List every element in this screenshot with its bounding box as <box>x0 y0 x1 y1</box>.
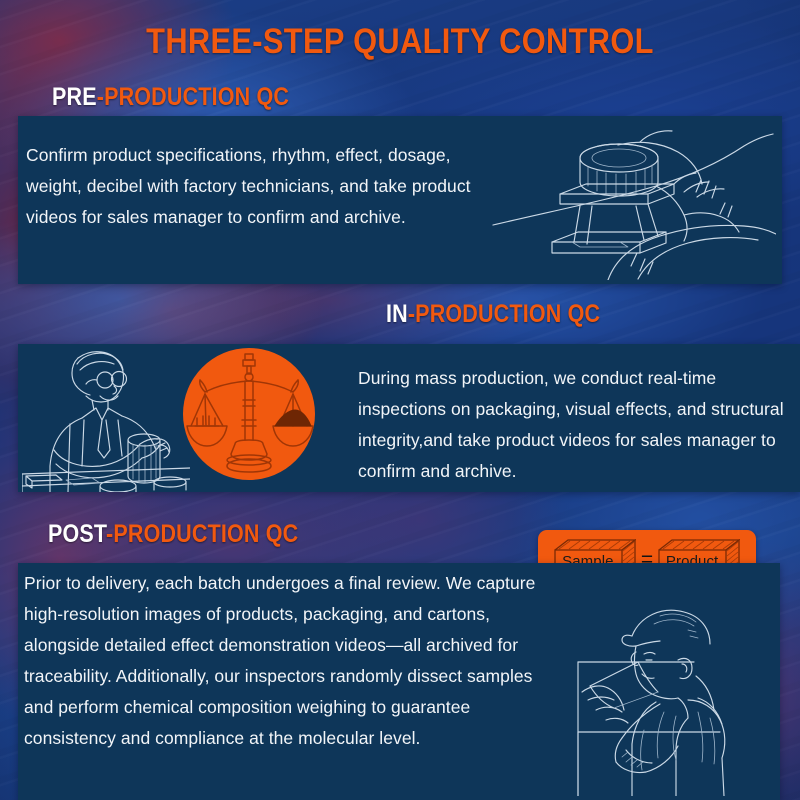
step-1-heading: PRE-PRODUCTION QC <box>52 82 289 112</box>
step-3-heading-orange: -PRODUCTION QC <box>106 520 298 548</box>
worker-inspecting-product-icon <box>22 346 190 497</box>
balance-scale-icon <box>183 348 315 485</box>
step-2-heading-white: IN <box>386 300 408 328</box>
infographic-poster: THREE-STEP QUALITY CONTROL PRE-PRODUCTIO… <box>0 0 800 800</box>
step-3-heading-white: POST <box>48 520 106 548</box>
step-1-body: Confirm product specifications, rhythm, … <box>26 140 496 233</box>
step-1-heading-white: PRE <box>52 83 97 111</box>
step-3-heading: POST-PRODUCTION QC <box>48 519 298 549</box>
step-1-heading-orange: -PRODUCTION QC <box>97 83 289 111</box>
hand-holding-product-icon <box>488 120 776 285</box>
man-holding-tablet-icon <box>560 600 792 800</box>
step-2-body: During mass production, we conduct real-… <box>358 363 786 487</box>
page-title: THREE-STEP QUALITY CONTROL <box>48 20 752 64</box>
step-2-heading: IN-PRODUCTION QC <box>386 299 600 329</box>
step-2-heading-orange: -PRODUCTION QC <box>408 300 600 328</box>
step-3-body: Prior to delivery, each batch undergoes … <box>24 568 546 754</box>
